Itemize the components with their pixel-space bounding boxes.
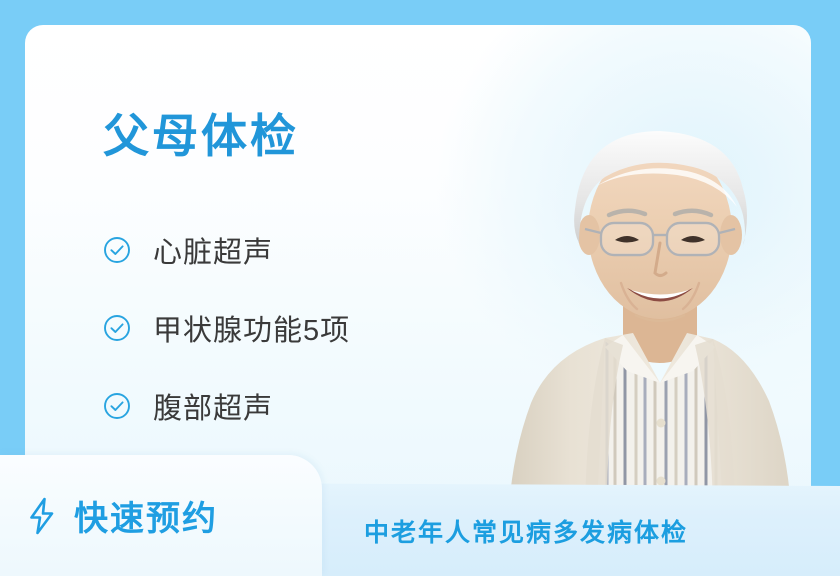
lightning-bolt-icon [26, 497, 58, 535]
tagline-text: 中老年人常见病多发病体检 [364, 513, 688, 549]
page-title: 父母体检 [103, 113, 299, 159]
list-item-label: 心脏超声 [153, 229, 273, 271]
list-item-label: 甲状腺功能5项 [153, 307, 350, 349]
feature-list: 心脏超声 甲状腺功能5项 腹部超声 [103, 211, 483, 445]
list-item[interactable]: 心脏超声 [103, 211, 483, 289]
promo-card-screen: 父母体检 心脏超声 甲状腺功能5项 [0, 0, 840, 576]
list-item[interactable]: 甲状腺功能5项 [103, 289, 483, 367]
check-circle-icon [103, 314, 131, 342]
quick-booking-button[interactable]: 快速预约 [0, 455, 322, 576]
check-circle-icon [103, 236, 131, 264]
list-item-label: 腹部超声 [153, 385, 273, 427]
check-circle-icon [103, 392, 131, 420]
elderly-man-photo [455, 83, 811, 508]
list-item[interactable]: 腹部超声 [103, 367, 483, 445]
quick-booking-label: 快速预约 [74, 491, 218, 540]
